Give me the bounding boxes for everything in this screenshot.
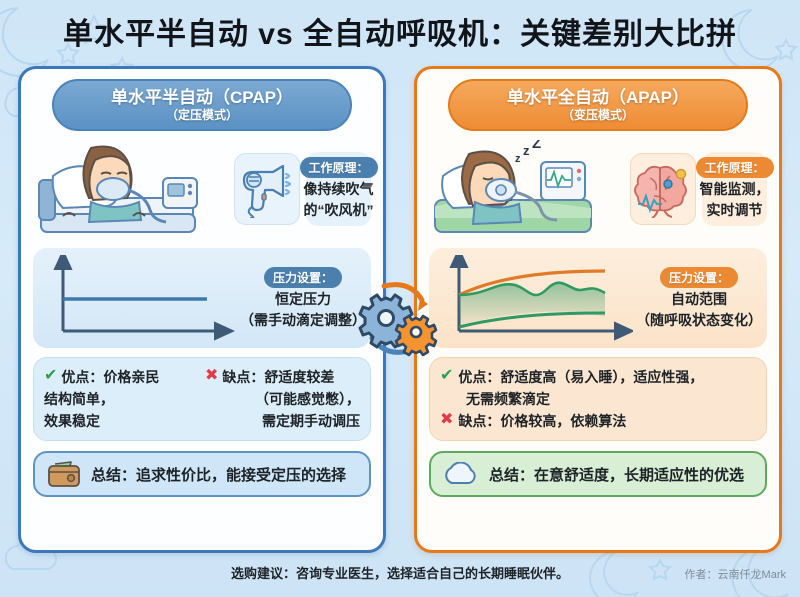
hairdryer-icon (234, 153, 300, 225)
apap-pros-row: ✔ 优点：舒适度高（易入睡），适应性强， (440, 366, 756, 388)
panel-apap-title: 单水平全自动（APAP） (507, 88, 689, 108)
apap-pressure-text: 压力设置： 自动范围 （随呼吸状态变化） (639, 267, 759, 330)
apap-pros-line2: 无需频繁滴定 (466, 388, 756, 410)
footer: 选购建议：咨询专业医生，选择适合自己的长期睡眠伙伴。 作者：云南仟龙Mark (0, 553, 800, 597)
cpap-pros-column: ✔ 优点：价格亲民 结构简单， 效果稳定 (44, 366, 199, 432)
panel-apap-header: 单水平全自动（APAP） （变压模式） (448, 79, 748, 131)
check-icon: ✔ (44, 366, 57, 386)
cpap-pros-line2: 结构简单， (44, 388, 199, 410)
svg-text:z: z (515, 153, 521, 165)
cpap-cons-column: ✖ 缺点：舒适度较差 （可能感觉憋）， 需定期手动调压 (205, 366, 360, 432)
svg-text:z: z (523, 143, 530, 158)
apap-pressure-row: 压力设置： 自动范围 （随呼吸状态变化） (429, 248, 767, 348)
footer-advice: 选购建议：咨询专业医生，选择适合自己的长期睡眠伙伴。 (0, 563, 800, 582)
cross-icon: ✖ (440, 410, 453, 430)
svg-text:Z: Z (532, 140, 541, 152)
apap-summary-text: 总结：在意舒适度，长期适应性的优选 (489, 464, 744, 485)
wallet-icon (47, 460, 81, 488)
apap-principle-line1: 智能监测， (700, 180, 770, 199)
apap-cons-row: ✖ 缺点：价格较高，依赖算法 (440, 410, 756, 432)
cpap-pressure-row: 压力设置： 恒定压力 （需手动滴定调整） (33, 248, 371, 348)
arrow-curve-right-icon (384, 285, 422, 300)
page-title: 单水平半自动 vs 全自动呼吸机：关键差别大比拼 (63, 9, 737, 53)
cpap-summary-text: 总结：追求性价比，能接受定压的选择 (91, 464, 346, 485)
panel-cpap: 单水平半自动（CPAP） （定压模式） (18, 66, 386, 553)
center-transition-gears (358, 276, 440, 362)
cpap-pros-label: 优点：价格亲民 (61, 366, 159, 388)
apap-pressure-line1: 自动范围 (671, 290, 727, 309)
cpap-principle-card: 工作原理： 像持续吹气 的“吹风机” (306, 152, 371, 226)
cross-icon: ✖ (205, 366, 218, 386)
apap-pressure-line2: （随呼吸状态变化） (636, 311, 762, 330)
cpap-pressure-line1: 恒定压力 (275, 290, 331, 309)
apap-principle-card: 工作原理： 智能监测， 实时调节 (702, 152, 767, 226)
cloud-icon (443, 462, 479, 486)
apap-summary-box: 总结：在意舒适度，长期适应性的优选 (429, 451, 767, 497)
apap-illustration-row: z z Z 工作原理： 智能监测， 实时调节 (429, 139, 767, 239)
cpap-pros-line3: 效果稳定 (44, 410, 199, 432)
cpap-cons-line2: （可能感觉憋）， (205, 388, 360, 410)
panel-cpap-subtitle: （定压模式） (166, 108, 238, 123)
footer-author: 作者：云南仟龙Mark (685, 566, 786, 582)
cpap-principle-label: 工作原理： (300, 157, 378, 178)
apap-pros-label: 优点：舒适度高（易入睡），适应性强， (458, 366, 703, 388)
cpap-pressure-line2: （需手动滴定调整） (240, 311, 366, 330)
apap-pros-cons-box: ✔ 优点：舒适度高（易入睡），适应性强， 无需频繁滴定 ✖ 缺点：价格较高，依赖… (429, 357, 767, 441)
auto-range-pressure-chart (437, 255, 633, 341)
cpap-cons-line3: 需定期手动调压 (205, 410, 360, 432)
check-icon: ✔ (440, 366, 453, 386)
apap-principle-line2: 实时调节 (707, 201, 763, 220)
panel-cpap-title: 单水平半自动（CPAP） (111, 88, 293, 108)
panel-apap: 单水平全自动（APAP） （变压模式） z (414, 66, 782, 553)
page-title-bar: 单水平半自动 vs 全自动呼吸机：关键差别大比拼 (0, 0, 800, 62)
brain-icon (630, 153, 696, 225)
sleeping-person-apap-illustration: z z Z (429, 140, 624, 238)
cpap-pressure-text: 压力设置： 恒定压力 （需手动滴定调整） (243, 267, 363, 330)
cpap-illustration-row: 工作原理： 像持续吹气 的“吹风机” (33, 139, 371, 239)
apap-principle-label: 工作原理： (696, 157, 774, 178)
cpap-cons-label: 缺点：舒适度较差 (222, 366, 334, 388)
constant-pressure-chart (41, 255, 237, 341)
cpap-pros-cons-box: ✔ 优点：价格亲民 结构简单， 效果稳定 ✖ 缺点：舒适度较差 （可能感觉憋），… (33, 357, 371, 441)
panel-cpap-header: 单水平半自动（CPAP） （定压模式） (52, 79, 352, 131)
apap-cons-label: 缺点：价格较高，依赖算法 (458, 410, 626, 432)
cpap-pressure-label: 压力设置： (264, 267, 342, 288)
cpap-summary-box: 总结：追求性价比，能接受定压的选择 (33, 451, 371, 497)
apap-pressure-label: 压力设置： (660, 267, 738, 288)
panel-apap-subtitle: （变压模式） (562, 108, 634, 123)
cpap-principle-line2: 的“吹风机” (304, 201, 374, 220)
cpap-principle-line1: 像持续吹气 (304, 180, 374, 199)
person-in-bed-cpap-illustration (33, 140, 228, 238)
